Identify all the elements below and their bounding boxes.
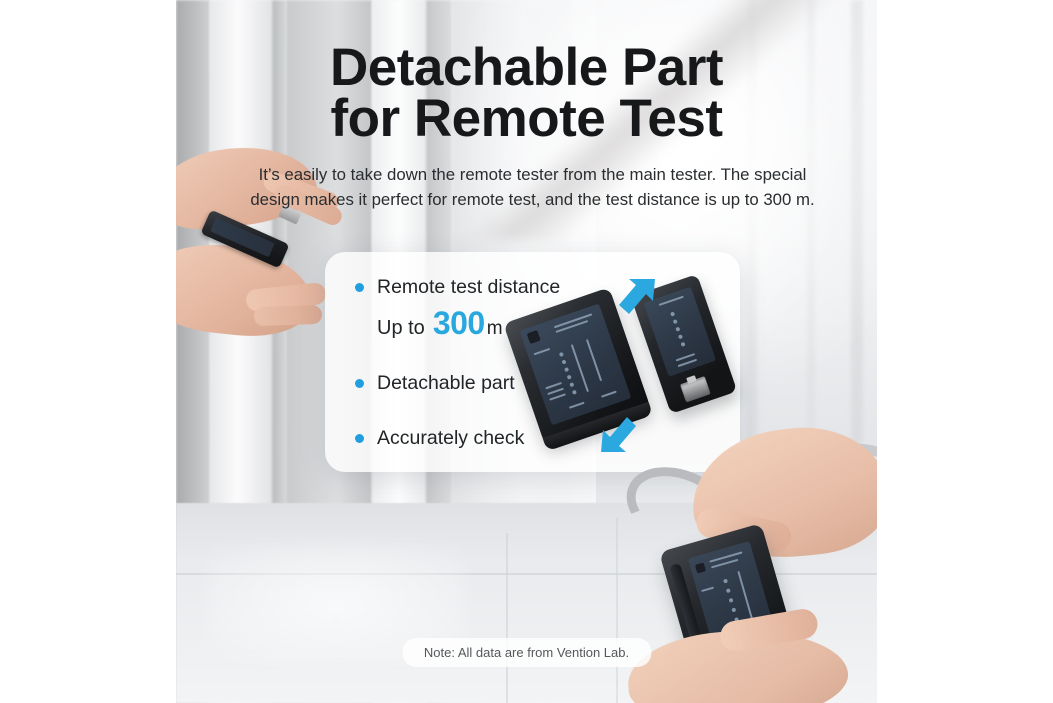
bullet-dot-icon: [355, 283, 364, 292]
distance-unit: m: [487, 318, 503, 340]
led-indicator: [564, 367, 569, 372]
arrow-up-right-icon: [617, 276, 659, 320]
faceplate-trace: [586, 339, 602, 381]
power-switch: [695, 562, 706, 573]
photo-stage: Detachable Part for Remote Test It’s eas…: [176, 0, 877, 703]
led-indicator: [678, 334, 683, 339]
faceplate-label: [534, 348, 551, 355]
led-indicator: [559, 352, 564, 357]
led-indicator: [723, 579, 728, 584]
faceplate-label: [569, 402, 585, 409]
faceplate-trace: [737, 571, 754, 623]
distance-prefix: Up to: [377, 317, 425, 340]
product-photo-detached-pair: [521, 282, 736, 467]
footer-note: Note: All data are from Vention Lab.: [402, 638, 651, 667]
floor-seam: [616, 518, 618, 703]
faceplate-label: [549, 393, 566, 400]
headline-line-2: for Remote Test: [176, 93, 877, 144]
headline: Detachable Part for Remote Test: [176, 42, 877, 144]
faceplate-label: [701, 587, 714, 593]
led-indicator: [729, 598, 734, 603]
led-indicator: [726, 588, 731, 593]
led-indicator: [569, 382, 574, 387]
faceplate-label: [601, 391, 617, 398]
arrow-down-left-icon: [597, 410, 637, 456]
bullet-dot-icon: [355, 379, 364, 388]
led-indicator: [673, 319, 678, 324]
floor-seam: [506, 533, 508, 703]
bullet-label: Accurately check: [377, 427, 524, 450]
rj45-port: [680, 376, 711, 402]
bullet-dot-icon: [355, 434, 364, 443]
led-indicator: [561, 359, 566, 364]
led-indicator: [681, 342, 686, 347]
main-tester-faceplate: [519, 303, 631, 425]
faceplate-label: [659, 296, 684, 306]
product-marketing-image: Detachable Part for Remote Test It’s eas…: [0, 0, 1053, 703]
headline-line-1: Detachable Part: [176, 42, 877, 93]
bullet-label: Detachable part: [377, 372, 515, 395]
led-indicator: [675, 327, 680, 332]
power-switch: [527, 330, 541, 344]
distance-value: 300: [433, 305, 485, 342]
hand-holding-tester-scene: [636, 455, 877, 703]
finger: [254, 305, 323, 326]
led-indicator: [572, 390, 577, 395]
led-indicator: [670, 312, 675, 317]
led-indicator: [731, 607, 736, 612]
led-indicator: [567, 375, 572, 380]
subtitle: It’s easily to take down the remote test…: [236, 163, 829, 212]
